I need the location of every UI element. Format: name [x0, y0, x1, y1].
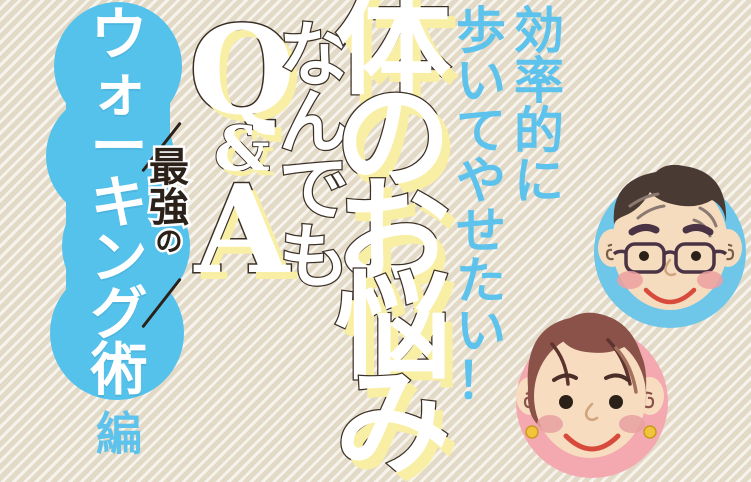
subcopy1-char-3: 的	[514, 106, 564, 156]
kicker-particle: の	[156, 229, 183, 256]
subcopy1-char-2: 率	[514, 56, 564, 106]
subcopy1-char-4: に	[514, 156, 564, 206]
subcopy2-char-5: せ	[456, 206, 506, 256]
subcopy2-char-3: て	[456, 106, 506, 156]
badge-char-6: グ	[91, 287, 148, 343]
avatar-woman	[492, 292, 684, 482]
kicker-char-1: 最	[149, 148, 189, 188]
subcopy-line-1: 効 率 的 に	[510, 6, 568, 206]
kicker-char-2: 強	[149, 188, 189, 228]
headline-char-5: み	[335, 376, 451, 471]
subcopy1-char-1: 効	[514, 6, 564, 56]
page-title: 体 の お 悩 み	[330, 0, 456, 472]
subcopy2-char-1: 歩	[456, 6, 506, 56]
badge-char-2: ォ	[91, 64, 148, 120]
kicker-text: 最 強 の	[133, 148, 205, 256]
magazine-banner: ウ ォ ー キ ン グ 術 編 最 強 の Q & A な ん で も 体 の …	[0, 0, 751, 482]
subcopy2-char-4: や	[456, 156, 506, 206]
badge-suffix-label: 編	[55, 398, 183, 464]
subcopy2-char-2: い	[456, 56, 506, 106]
badge-char-1: ウ	[91, 8, 148, 64]
badge-char-7: 術	[91, 343, 148, 399]
qa-column: Q & A	[196, 14, 288, 286]
